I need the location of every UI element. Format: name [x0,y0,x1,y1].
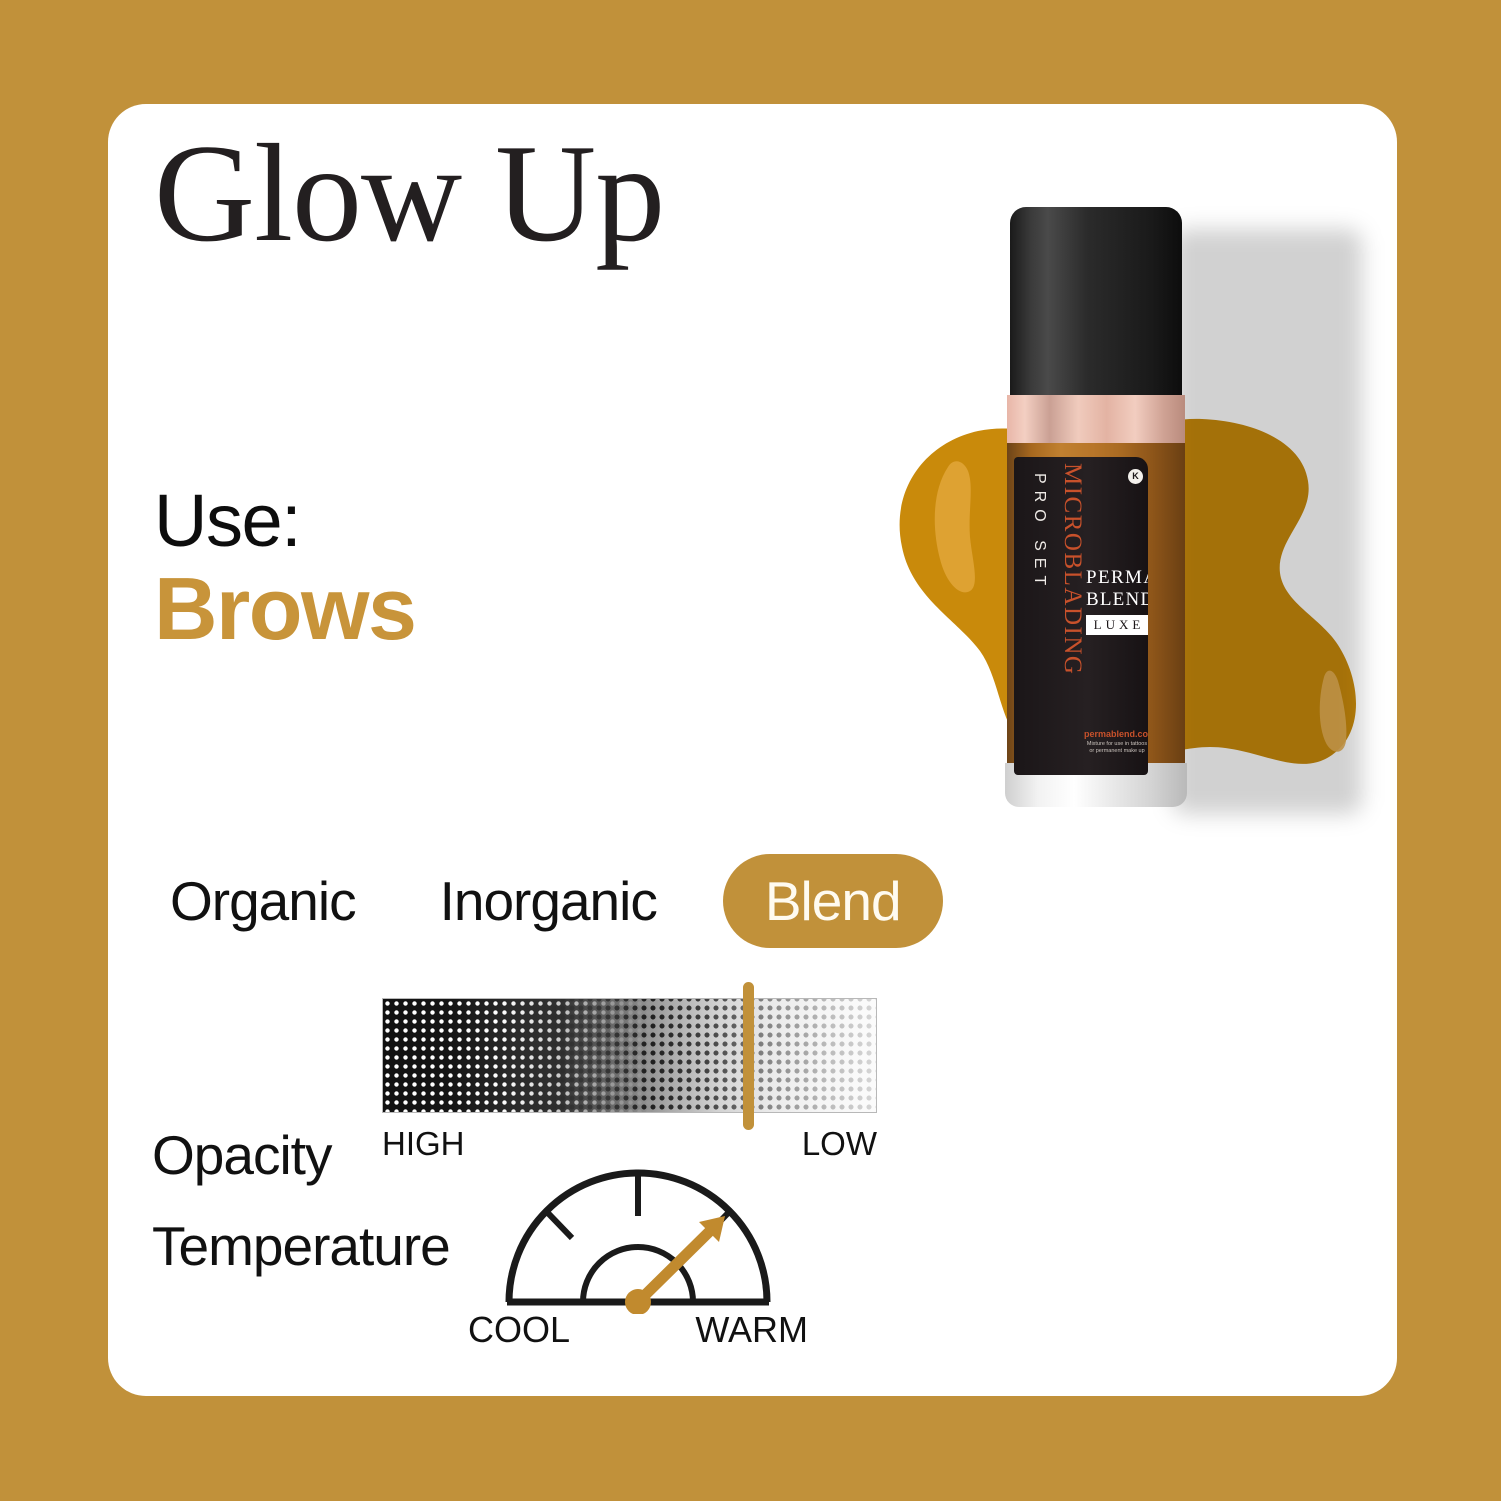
label-brand-line2: BLEND. [1086,589,1148,611]
product-image: MICROBLADING PRO SET PERMA BLEND. LUXE K… [828,199,1368,829]
pigment-type-option-blend[interactable]: Blend [723,854,943,948]
pigment-type-option-organic[interactable]: Organic [152,854,374,948]
bottle-label: MICROBLADING PRO SET PERMA BLEND. LUXE K… [1014,457,1148,775]
opacity-label: Opacity [152,1123,331,1187]
label-brand-line1: PERMA [1086,567,1148,589]
opacity-gradient-bar [382,998,877,1113]
gauge-tick-cool [546,1211,572,1238]
label-product-line: MICROBLADING [1058,463,1086,763]
pigment-bottle: MICROBLADING PRO SET PERMA BLEND. LUXE K… [996,207,1196,807]
temperature-scale: COOL WARM [468,1309,808,1351]
label-website: permablend.com [1084,729,1148,739]
use-value: Brows [154,562,415,655]
opacity-scale: HIGH LOW [382,1125,877,1163]
label-brand-tier: LUXE [1086,615,1148,635]
temperature-scale-cool: COOL [468,1309,570,1351]
pigment-type-row: Organic Inorganic Blend [152,854,943,948]
bottle-rose-gold-band [1007,395,1185,447]
bottle-shadow [1172,229,1362,814]
label-fine-print: Mixture for use in tattoos or permanent … [1084,741,1148,755]
temperature-label: Temperature [152,1214,450,1278]
opacity-halftone-dark-dots [383,999,876,1112]
bottle-cap [1010,207,1182,402]
page-title: Glow Up [154,124,664,264]
product-info-card: Glow Up Use: Brows Organic Inorganic Ble… [108,104,1397,1396]
infographic-page: Glow Up Use: Brows Organic Inorganic Ble… [0,0,1501,1501]
gauge-needle [638,1230,711,1302]
opacity-value-marker [743,982,754,1130]
pigment-type-option-inorganic[interactable]: Inorganic [422,854,675,948]
use-block: Use: Brows [154,482,415,656]
opacity-scale-high: HIGH [382,1125,465,1163]
temperature-scale-warm: WARM [695,1309,808,1351]
kosher-badge-icon: K [1128,469,1143,484]
temperature-gauge-icon [493,1164,783,1314]
label-set-type: PRO SET [1030,473,1048,733]
opacity-scale-low: LOW [802,1125,877,1163]
label-brand-block: PERMA BLEND. LUXE [1086,567,1148,635]
use-label: Use: [154,482,415,560]
